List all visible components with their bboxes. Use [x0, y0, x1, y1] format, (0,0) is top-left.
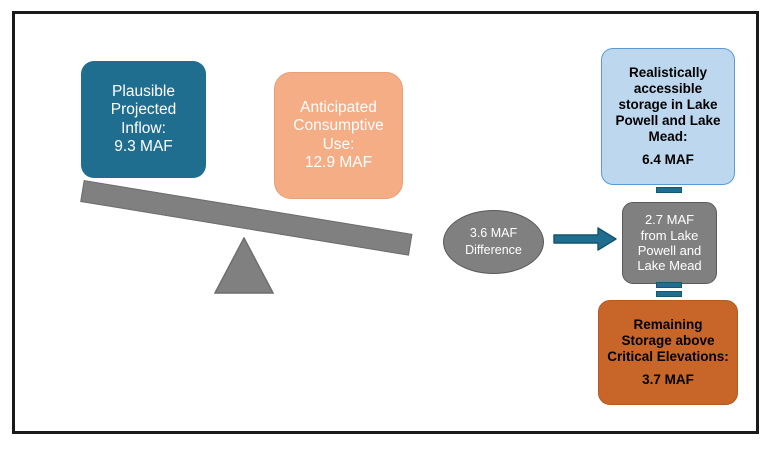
difference-value: 3.6 MAF [470, 225, 517, 242]
equals-bar-top [656, 282, 682, 288]
equals-bar-bottom [656, 291, 682, 297]
difference-label: Difference [465, 242, 522, 259]
storage-line-2: accessible [602, 81, 734, 97]
use-line-1: Anticipated [275, 99, 402, 117]
inflow-line-3: Inflow: [81, 120, 206, 138]
use-value: 12.9 MAF [275, 154, 402, 172]
remaining-line-1: Remaining [599, 317, 737, 333]
anticipated-consumptive-use-box: Anticipated Consumptive Use: 12.9 MAF [274, 72, 403, 199]
storage-value: 6.4 MAF [602, 152, 734, 168]
remaining-storage-box: Remaining Storage above Critical Elevati… [598, 300, 738, 405]
plausible-projected-inflow-box: Plausible Projected Inflow: 9.3 MAF [81, 61, 206, 178]
storage-line-1: Realistically [602, 65, 734, 81]
remaining-value: 3.7 MAF [599, 372, 737, 388]
from-line-4: Lake Mead [623, 258, 716, 273]
diagram-canvas: Plausible Projected Inflow: 9.3 MAF Anti… [0, 0, 779, 452]
inflow-line-1: Plausible [81, 83, 206, 101]
from-line-3: Powell and [623, 243, 716, 258]
minus-sign-icon [656, 187, 682, 193]
minus-bar [656, 187, 682, 193]
storage-line-3: storage in Lake [602, 97, 734, 113]
right-arrow-icon [553, 226, 618, 252]
equals-sign-icon [656, 282, 682, 297]
remaining-line-3: Critical Elevations: [599, 349, 737, 365]
from-line-1: 2.7 MAF [623, 212, 716, 227]
use-line-3: Use: [275, 136, 402, 154]
use-line-2: Consumptive [275, 117, 402, 135]
inflow-value: 9.3 MAF [81, 138, 206, 156]
fulcrum-triangle [214, 237, 274, 294]
diagram-frame: Plausible Projected Inflow: 9.3 MAF Anti… [12, 11, 759, 434]
difference-ellipse: 3.6 MAF Difference [443, 210, 544, 274]
inflow-line-2: Projected [81, 101, 206, 119]
accessible-storage-box: Realistically accessible storage in Lake… [601, 48, 735, 185]
remaining-line-2: Storage above [599, 333, 737, 349]
from-lake-powell-mead-box: 2.7 MAF from Lake Powell and Lake Mead [622, 202, 717, 284]
from-line-2: from Lake [623, 228, 716, 243]
storage-line-4: Powell and Lake [602, 113, 734, 129]
storage-line-5: Mead: [602, 129, 734, 145]
